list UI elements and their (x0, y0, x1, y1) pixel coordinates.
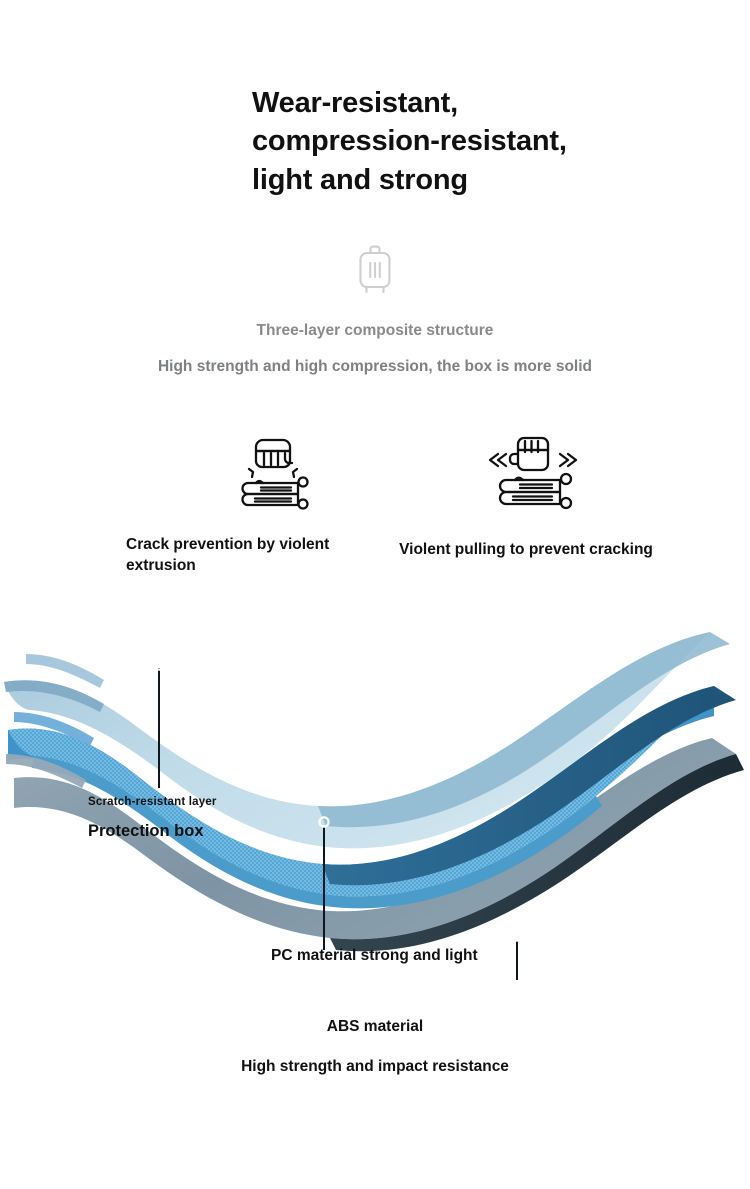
callout-label-scratch-resistant: Scratch-resistant layer Protection box (88, 796, 217, 841)
callout-label-pc-material: PC material strong and light (271, 946, 478, 967)
feature-item-pulling: Violent pulling to prevent cracking (386, 428, 676, 560)
infographic-page: Wear-resistant, compression-resistant, l… (0, 0, 750, 1189)
feature-icon-container (154, 428, 402, 524)
callout-big-text: ABS material (0, 1018, 750, 1036)
fist-pressing-suitcase-icon (233, 430, 323, 522)
callout-big-text: PC material strong and light (271, 946, 478, 967)
feature-label-extrusion: Crack prevention by violent extrusion (112, 534, 376, 577)
subtitle-primary: Three-layer composite structure (0, 322, 750, 340)
callout-small-text: High strength and impact resistance (0, 1058, 750, 1076)
callout-big-text: Protection box (88, 822, 217, 841)
subtitle-secondary: High strength and high compression, the … (0, 358, 750, 376)
callout-label-abs-material: ABS material High strength and impact re… (0, 1018, 750, 1076)
suitcase-icon (352, 243, 398, 299)
callout-small-text: Scratch-resistant layer (88, 796, 217, 808)
feature-label-pulling: Violent pulling to prevent cracking (386, 539, 666, 560)
feature-item-extrusion: Crack prevention by violent extrusion (112, 428, 402, 577)
page-title: Wear-resistant, compression-resistant, l… (252, 84, 582, 199)
fist-pulling-suitcase-icon (482, 430, 594, 522)
callout-marker-3 (512, 931, 521, 980)
feature-row: Crack prevention by violent extrusion (0, 428, 750, 588)
feature-icon-container (400, 428, 676, 524)
hero-icon-container (0, 243, 750, 299)
